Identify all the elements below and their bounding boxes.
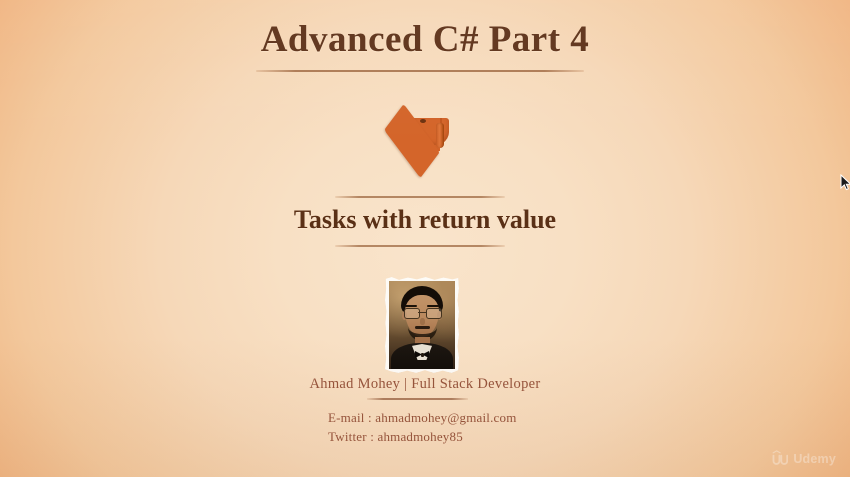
author-contact: E-mail : ahmadmohey@gmail.com Twitter : … xyxy=(328,408,517,446)
photo-glasses-bridge xyxy=(418,312,426,313)
photo-bowtie-knot xyxy=(421,353,424,357)
author-email: E-mail : ahmadmohey@gmail.com xyxy=(328,408,517,427)
subtitle-divider-top xyxy=(335,196,505,198)
author-name: Ahmad Mohey | Full Stack Developer xyxy=(0,376,850,393)
photo-nose xyxy=(420,318,425,325)
avatar xyxy=(389,281,455,369)
graduation-cap-board xyxy=(384,104,440,178)
author-twitter: Twitter : ahmadmohey85 xyxy=(328,427,517,446)
page-title: Advanced C# Part 4 xyxy=(0,18,850,61)
graduation-cap-button xyxy=(420,119,426,123)
author-divider xyxy=(367,398,468,400)
slide-subtitle: Tasks with return value xyxy=(0,205,850,235)
photo-lens-right xyxy=(426,308,442,319)
mouse-pointer xyxy=(840,174,850,192)
graduation-cap-tassel xyxy=(436,123,444,148)
photo-glasses xyxy=(403,308,441,318)
graduation-cap-icon xyxy=(378,98,472,160)
photo-lens-left xyxy=(404,308,420,319)
udemy-watermark: Udemy xyxy=(771,450,836,467)
author-photo-frame xyxy=(385,277,459,373)
presentation-slide: Advanced C# Part 4 Tasks with return val… xyxy=(0,0,850,477)
subtitle-divider-bottom xyxy=(335,245,505,247)
graduation-cap-board-wrap xyxy=(381,108,465,138)
title-divider xyxy=(256,70,584,72)
udemy-brand-label: Udemy xyxy=(793,452,836,466)
udemy-logo-icon xyxy=(771,450,788,467)
